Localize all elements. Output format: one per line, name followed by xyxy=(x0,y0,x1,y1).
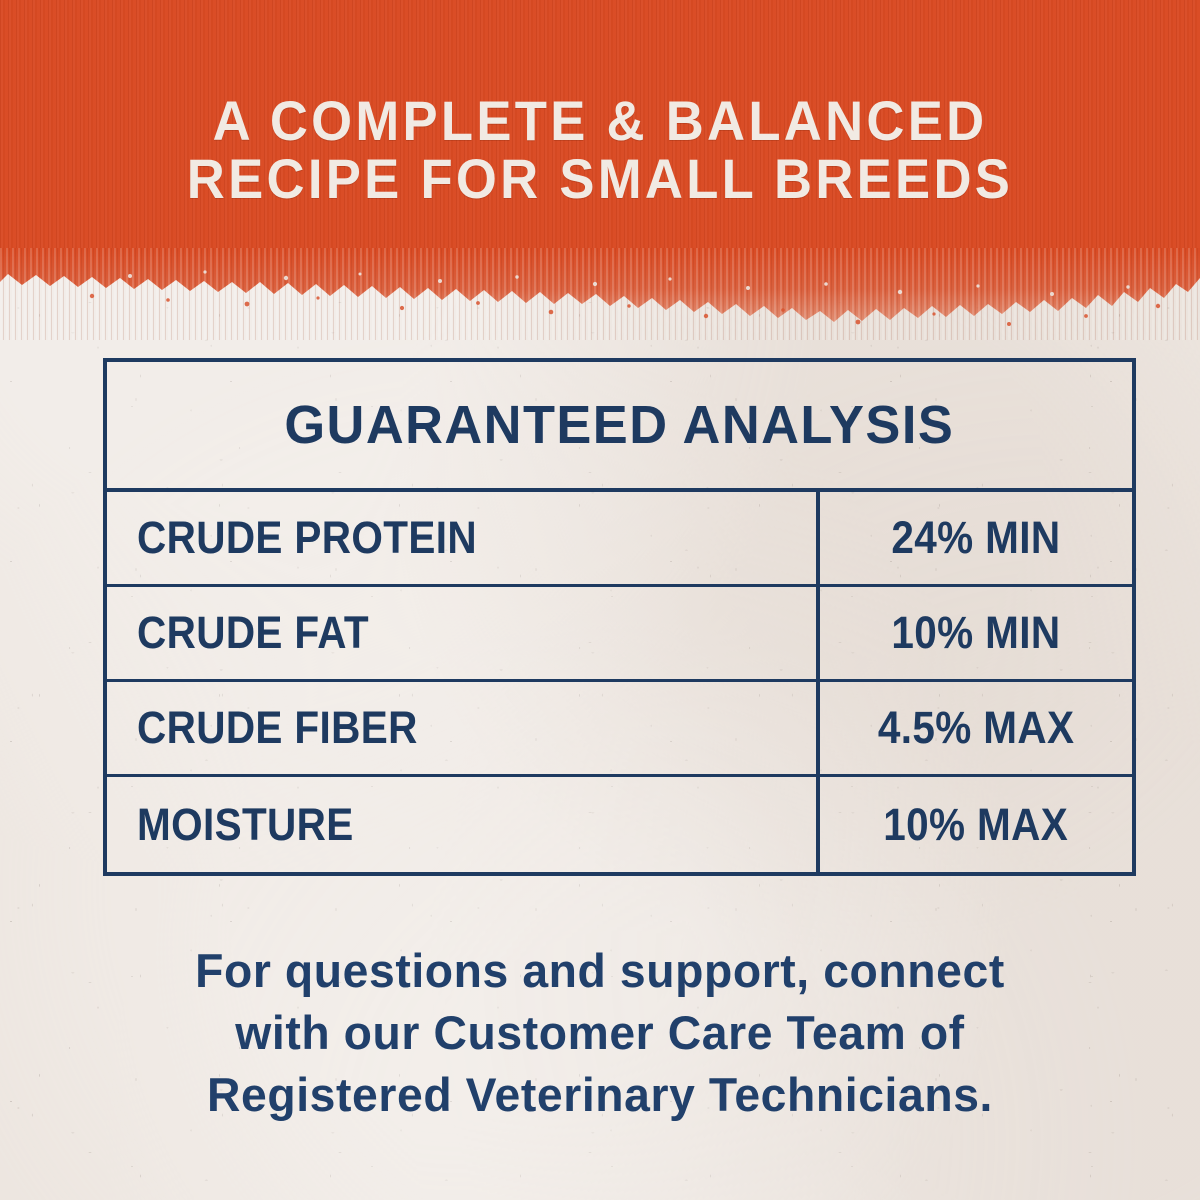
table-row: MOISTURE 10% MAX xyxy=(107,777,1132,873)
nutrient-label: CRUDE FAT xyxy=(137,610,369,656)
guaranteed-analysis-table: GUARANTEED ANALYSIS CRUDE PROTEIN 24% MI… xyxy=(103,358,1136,876)
table-row: CRUDE FAT 10% MIN xyxy=(107,587,1132,682)
nutrient-amount: 10% MIN xyxy=(891,610,1060,656)
guaranteed-analysis-title: GUARANTEED ANALYSIS xyxy=(285,397,955,453)
product-label-panel: A COMPLETE & BALANCED RECIPE FOR SMALL B… xyxy=(0,0,1200,1200)
nutrient-label: CRUDE PROTEIN xyxy=(137,515,477,561)
nutrient-name-cell: CRUDE PROTEIN xyxy=(107,492,820,584)
table-row: CRUDE PROTEIN 24% MIN xyxy=(107,492,1132,587)
nutrient-amount-cell: 4.5% MAX xyxy=(820,682,1132,774)
guaranteed-analysis-title-row: GUARANTEED ANALYSIS xyxy=(107,362,1132,492)
nutrient-amount-cell: 10% MAX xyxy=(820,777,1132,873)
nutrient-amount: 4.5% MAX xyxy=(878,705,1074,751)
nutrient-label: MOISTURE xyxy=(137,802,354,848)
support-line-2: with our Customer Care Team of xyxy=(68,1002,1132,1064)
torn-paint-edge xyxy=(0,248,1200,340)
headline: A COMPLETE & BALANCED RECIPE FOR SMALL B… xyxy=(36,92,1164,208)
nutrient-name-cell: MOISTURE xyxy=(107,777,820,873)
headline-line-1: A COMPLETE & BALANCED xyxy=(36,92,1164,150)
support-line-1: For questions and support, connect xyxy=(68,940,1132,1002)
support-message: For questions and support, connect with … xyxy=(68,940,1132,1126)
nutrient-amount: 10% MAX xyxy=(884,802,1069,848)
support-line-3: Registered Veterinary Technicians. xyxy=(68,1064,1132,1126)
nutrient-amount-cell: 10% MIN xyxy=(820,587,1132,679)
nutrient-label: CRUDE FIBER xyxy=(137,705,418,751)
table-row: CRUDE FIBER 4.5% MAX xyxy=(107,682,1132,777)
nutrient-amount-cell: 24% MIN xyxy=(820,492,1132,584)
nutrient-amount: 24% MIN xyxy=(891,515,1060,561)
headline-line-2: RECIPE FOR SMALL BREEDS xyxy=(36,150,1164,208)
nutrient-name-cell: CRUDE FIBER xyxy=(107,682,820,774)
nutrient-name-cell: CRUDE FAT xyxy=(107,587,820,679)
